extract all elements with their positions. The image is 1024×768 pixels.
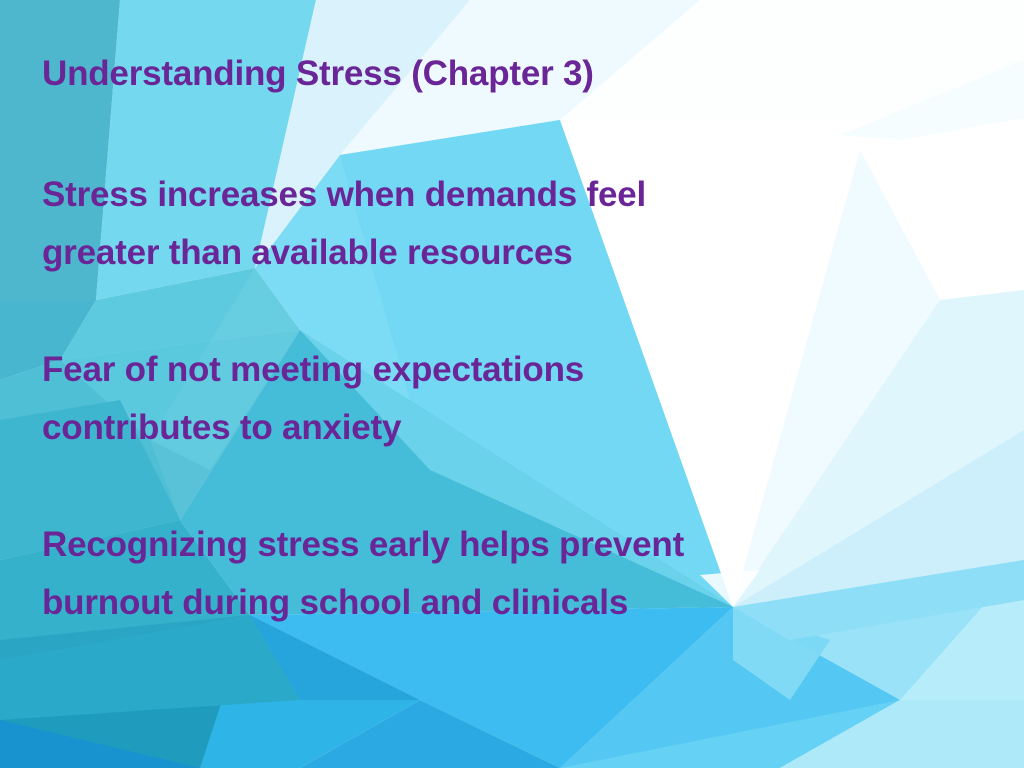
body-line: Stress increases when demands feel xyxy=(42,166,842,224)
body-block-1: Stress increases when demands feel great… xyxy=(42,166,842,282)
body-block-3: Recognizing stress early helps prevent b… xyxy=(42,516,842,632)
body-line: contributes to anxiety xyxy=(42,399,842,457)
slide-content: Understanding Stress (Chapter 3) Stress … xyxy=(0,0,1024,768)
body-line: greater than available resources xyxy=(42,224,842,282)
slide-title: Understanding Stress (Chapter 3) xyxy=(42,53,594,94)
body-block-2: Fear of not meeting expectations contrib… xyxy=(42,341,842,457)
presentation-slide: Understanding Stress (Chapter 3) Stress … xyxy=(0,0,1024,768)
body-line: burnout during school and clinicals xyxy=(42,574,842,632)
body-line: Recognizing stress early helps prevent xyxy=(42,516,842,574)
body-line: Fear of not meeting expectations xyxy=(42,341,842,399)
